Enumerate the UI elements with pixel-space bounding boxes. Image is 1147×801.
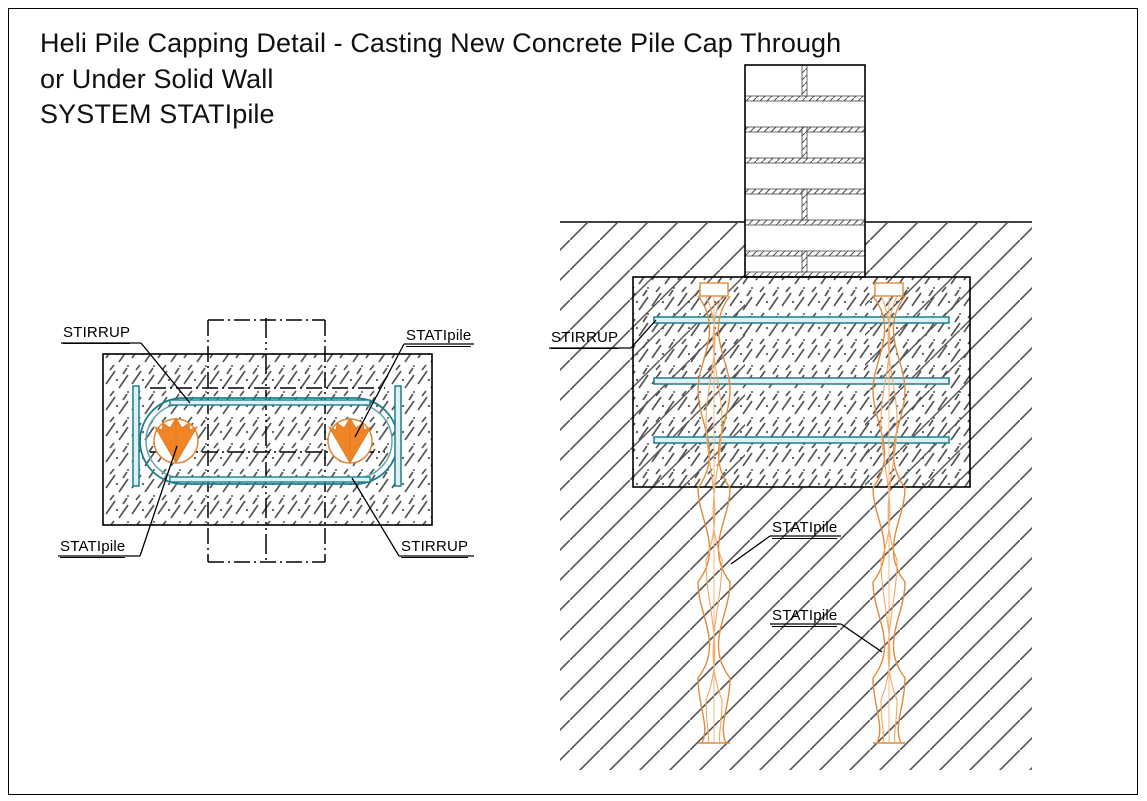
plan-view-group <box>58 318 474 564</box>
plan-label-stirrup-top-left: STIRRUP <box>63 324 130 341</box>
plan-label-statipile-bottom-left: STATIpile <box>60 538 125 555</box>
section-label-stirrup: STIRRUP <box>551 329 618 346</box>
technical-drawing <box>0 0 1147 801</box>
rebar-layer-top <box>654 317 949 323</box>
section-label-statipile-upper: STATIpile <box>772 519 837 536</box>
plan-pile-symbol-left <box>154 418 198 463</box>
section-view-group <box>549 65 1032 770</box>
plan-cap-body <box>103 354 432 525</box>
plan-label-stirrup-bottom-right: STIRRUP <box>401 538 468 555</box>
section-label-statipile-lower: STATIpile <box>772 607 837 624</box>
rebar-layer-bottom <box>654 437 949 443</box>
brick-wall <box>745 65 865 277</box>
plan-label-statipile-top-right: STATIpile <box>406 327 471 344</box>
plan-pile-symbol-right <box>328 418 372 463</box>
